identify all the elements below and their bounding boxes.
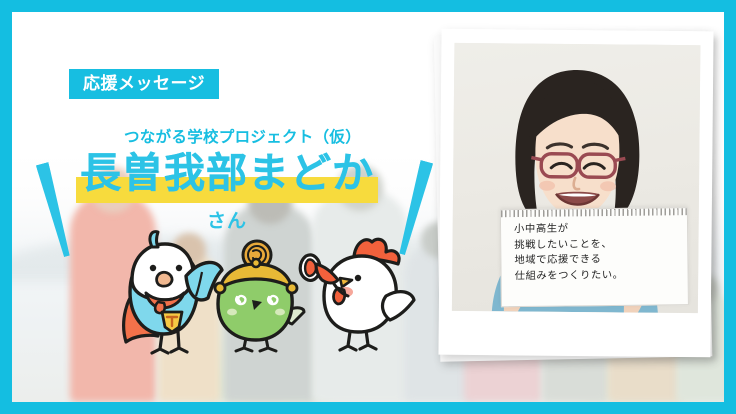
speaker-name: 長曽我部まどか [80,150,374,196]
portrait-of-speaker: 小中高生が挑戦したいことを、地域で応援できる仕組みをつくりたい。 [452,43,701,313]
slide-stage: 応援メッセージ つながる学校プロジェクト（仮） 長曽我部まどか さん [12,12,724,402]
coin-purse-bird-mascot [204,238,308,354]
polaroid-front-sheet: 小中高生が挑戦したいことを、地域で応援できる仕組みをつくりたい。 [438,29,713,358]
speaker-name-inner: 長曽我部まどか [80,151,374,195]
slide-card: 応援メッセージ つながる学校プロジェクト（仮） 長曽我部まどか さん [0,0,736,414]
note-spiral-rings [501,208,687,217]
note-text-lines: 小中高生が挑戦したいことを、地域で応援できる仕組みをつくりたい。 [514,220,680,284]
project-title: つながる学校プロジェクト（仮） [124,125,361,147]
speaker-name-wrap: 長曽我部まどか [12,151,442,195]
speaker-honorific: さん [12,206,442,233]
megaphone-chicken-mascot [294,234,416,354]
note-text-line: 仕組みをつくりたい。 [514,267,679,285]
note-text-line: 小中高生が [514,220,679,238]
handwritten-note: 小中高生が挑戦したいことを、地域で応援できる仕組みをつくりたい。 [500,207,689,307]
polaroid-photo-card: 小中高生が挑戦したいことを、地域で応援できる仕組みをつくりたい。 [440,30,712,356]
note-text-line: 地域で応援できる [514,251,679,269]
status-badge: 応援メッセージ [69,69,219,99]
